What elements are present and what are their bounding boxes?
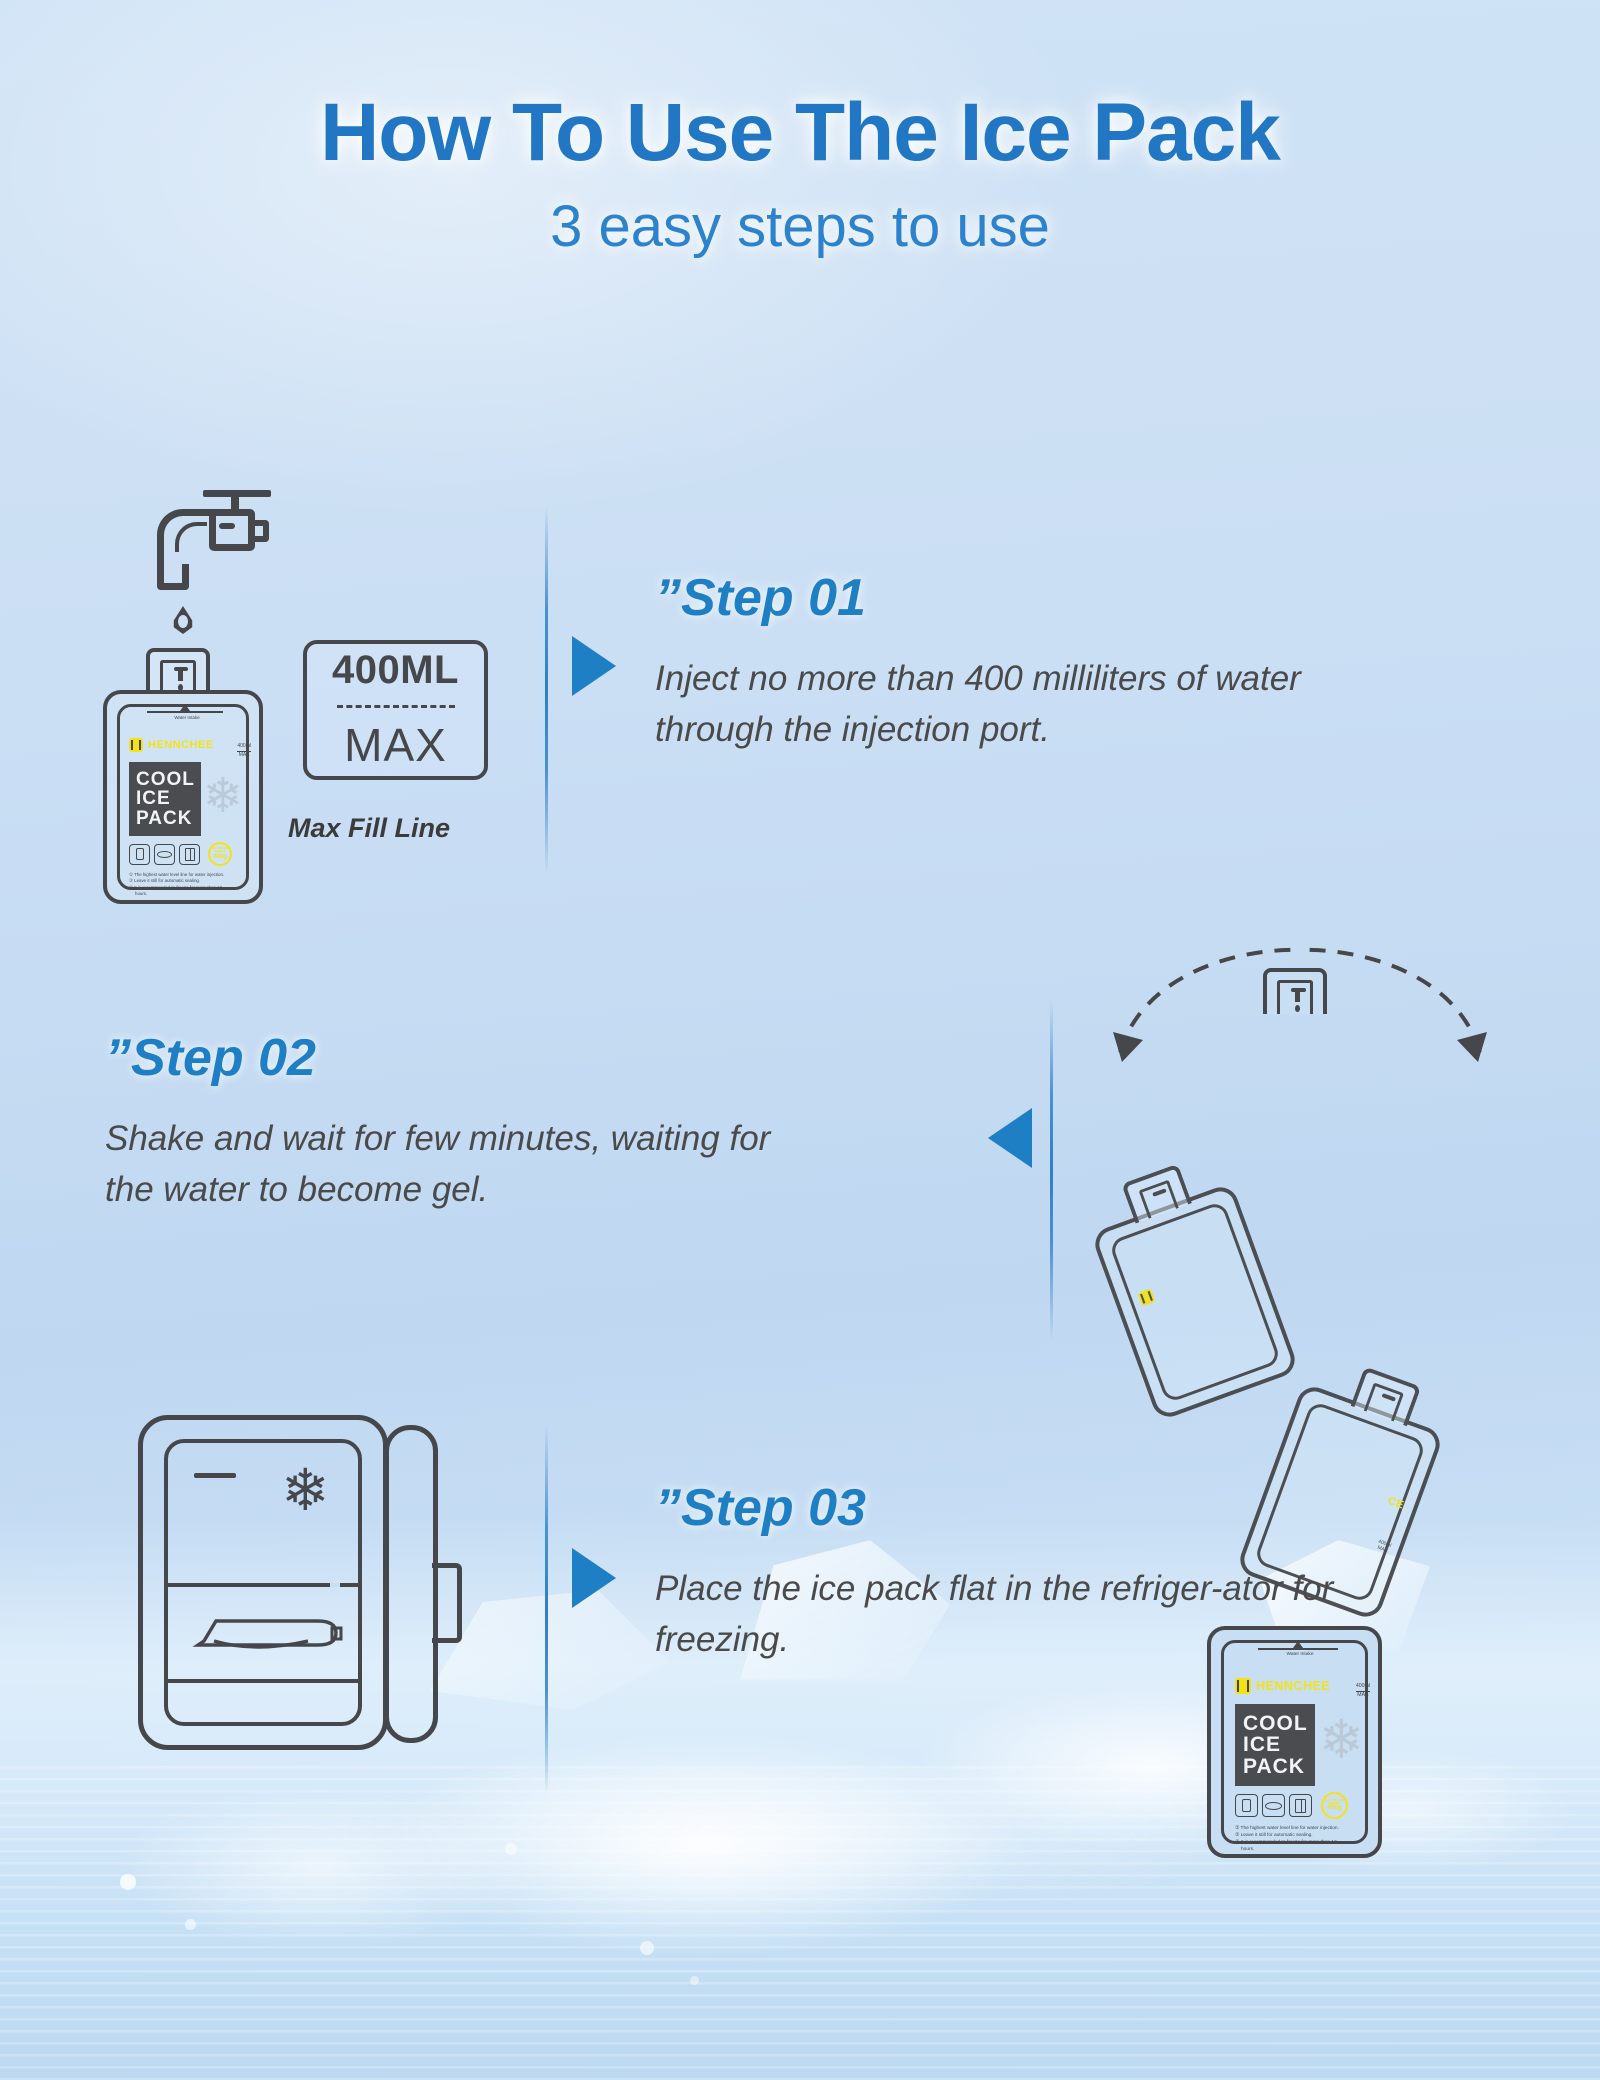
pack-side-volume: 400ml MAX: [237, 744, 251, 758]
product-name-box: COOL ICE PACK: [129, 762, 201, 836]
step-01-quote-mark: ”: [655, 569, 681, 627]
step-01-divider: [545, 505, 548, 875]
brand-logo: HENNCHEE: [129, 738, 214, 752]
step-02-quote-mark: ”: [105, 1029, 131, 1087]
pack-instruction-icons: THE CONTENT WEIGHT 400g: [129, 842, 232, 866]
max-fill-label: MAX: [344, 718, 447, 772]
pack-note-1: ① The highest water level line for water…: [1235, 1826, 1339, 1833]
step-03-title-text: Step 03: [681, 1479, 866, 1537]
water-intake-marker: Water Intake: [147, 711, 227, 720]
pack-injection-port-front: [1263, 968, 1327, 1014]
pack-notes: ① The highest water level line for water…: [1235, 1826, 1339, 1854]
step-02-title-text: Step 02: [131, 1029, 316, 1087]
step-02-title: ”Step 02: [105, 1028, 795, 1088]
pack-note-2: ② Leave it still for automatic sealing.: [1235, 1833, 1339, 1840]
product-line-3: PACK: [1243, 1756, 1307, 1777]
water-bubble: [505, 1843, 517, 1855]
fill-icon: [129, 844, 150, 865]
product-line-1: COOL: [1243, 1713, 1307, 1734]
step-01-title-text: Step 01: [681, 569, 866, 627]
snowflake-watermark-icon: ❄: [203, 768, 243, 824]
step-01-title: ”Step 01: [655, 568, 1345, 628]
hennchee-logo-icon: [1235, 1678, 1251, 1694]
weight-badge: THE CONTENT WEIGHT 400g: [1321, 1792, 1348, 1819]
max-fill-caption: Max Fill Line: [288, 813, 450, 844]
triangle-right-icon: [572, 1548, 616, 1608]
water-intake-label: Water Intake: [1258, 1652, 1342, 1657]
badge-weight: 400g: [1327, 1805, 1342, 1812]
side-volume-value: 400ml: [237, 744, 251, 750]
product-line-3: PACK: [136, 809, 194, 828]
step-03-title: ”Step 03: [655, 1478, 1345, 1538]
freezer-snowflake-icon: ❄: [281, 1462, 330, 1520]
pack-injection-port: [146, 648, 210, 692]
pack-note-4: hours.: [129, 891, 224, 897]
max-fill-box: 400ML MAX: [303, 640, 488, 780]
step-01-text-block: ”Step 01 Inject no more than 400 millili…: [655, 568, 1345, 756]
water-bubble: [640, 1941, 654, 1955]
flat-pack-icon: [154, 844, 175, 865]
water-bubble: [690, 1976, 699, 1985]
brand-name: HENNCHEE: [148, 739, 214, 751]
pack-notes: ① The highest water level line for water…: [129, 872, 224, 898]
brand-name: HENNCHEE: [1256, 1679, 1330, 1693]
flat-ice-pack-icon: [186, 1611, 344, 1657]
pack-note-3: ③ It is recommended to freeze for more t…: [1235, 1840, 1339, 1847]
badge-weight: 400g: [213, 854, 227, 860]
step-01-body: Inject no more than 400 milliliters of w…: [655, 654, 1345, 756]
max-fill-volume: 400ML: [332, 648, 459, 693]
brand-logo: HENNCHEE: [1235, 1678, 1330, 1694]
step-03-divider: [545, 1425, 548, 1795]
step-03-quote-mark: ”: [655, 1479, 681, 1537]
page-subtitle: 3 easy steps to use: [0, 198, 1600, 256]
step-02-divider: [1050, 1000, 1053, 1340]
water-bubble: [120, 1874, 136, 1890]
pack-side-volume: 400ml MAX: [1356, 1684, 1370, 1698]
freezer-icon: [1289, 1794, 1312, 1817]
side-max-label: MAX: [1356, 1693, 1370, 1699]
product-line-2: ICE: [1243, 1734, 1307, 1755]
snowflake-watermark-icon: ❄: [1319, 1708, 1364, 1771]
product-line-2: ICE: [136, 789, 194, 808]
triangle-left-icon: [988, 1108, 1032, 1168]
faucet-icon: [155, 490, 275, 600]
hennchee-logo-icon: [129, 738, 143, 752]
fill-icon: [1235, 1794, 1258, 1817]
ice-pack-illustration: Water Intake 400ml MAX HENNCHEE ❄ COOL I…: [103, 690, 263, 904]
water-intake-label: Water Intake: [147, 715, 227, 720]
water-intake-marker: Water Intake: [1258, 1648, 1342, 1657]
side-max-label: MAX: [237, 753, 251, 759]
pack-note-4: hours.: [1235, 1847, 1339, 1854]
page-header: How To Use The Ice Pack 3 easy steps to …: [0, 92, 1600, 256]
flat-pack-icon: [1262, 1794, 1285, 1817]
triangle-right-icon: [572, 636, 616, 696]
freezer-icon: [179, 844, 200, 865]
step-02-text-block: ”Step 02 Shake and wait for few minutes,…: [105, 1028, 795, 1216]
refrigerator-illustration: ❄: [138, 1415, 458, 1750]
weight-badge: THE CONTENT WEIGHT 400g: [208, 842, 232, 866]
pack-instruction-icons: THE CONTENT WEIGHT 400g: [1235, 1792, 1348, 1819]
max-fill-dashed-line: [337, 705, 455, 708]
step-02-body: Shake and wait for few minutes, waiting …: [105, 1114, 795, 1216]
page-title: How To Use The Ice Pack: [0, 92, 1600, 174]
ice-pack-front-illustration: Water Intake 400ml MAX HENNCHEE ❄ COOL I…: [1207, 1626, 1382, 1858]
product-name-box: COOL ICE PACK: [1235, 1704, 1315, 1786]
product-line-1: COOL: [136, 770, 194, 789]
water-bubble: [185, 1919, 196, 1930]
side-volume-value: 400ml: [1356, 1684, 1370, 1690]
